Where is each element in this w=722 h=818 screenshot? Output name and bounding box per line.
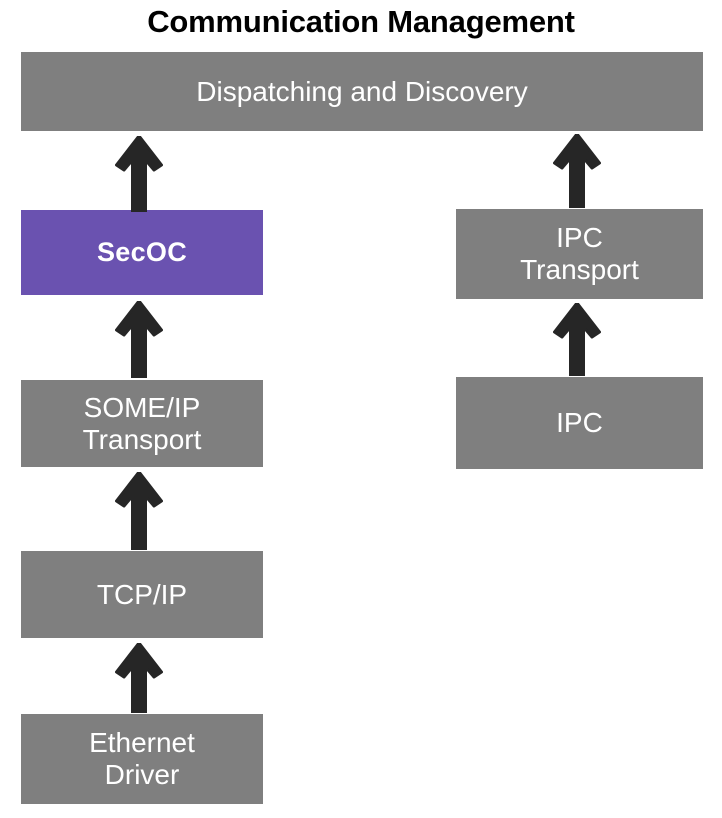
- arrow-secoc-to-dispatching: [115, 136, 163, 212]
- node-dispatching-and-discovery[interactable]: Dispatching and Discovery: [21, 52, 703, 131]
- arrow-some-ip-to-secoc: [115, 301, 163, 378]
- node-ethernet-driver[interactable]: Ethernet Driver: [21, 714, 263, 804]
- node-label-dispatching-and-discovery: Dispatching and Discovery: [190, 76, 534, 108]
- node-some-ip-transport[interactable]: SOME/IP Transport: [21, 380, 263, 467]
- node-label-secoc: SecOC: [91, 237, 193, 268]
- node-ipc-transport[interactable]: IPC Transport: [456, 209, 703, 299]
- node-label-ipc-transport: IPC Transport: [514, 222, 645, 286]
- node-label-ethernet-driver: Ethernet Driver: [83, 727, 201, 791]
- arrow-ipc-transport-to-dispatching: [553, 134, 601, 208]
- arrow-ipc-to-ipc-transport: [553, 303, 601, 376]
- communication-management-diagram: Communication Management Dispatching and…: [0, 0, 722, 818]
- arrow-ethernet-to-tcp-ip: [115, 643, 163, 713]
- page-title: Communication Management: [0, 0, 722, 44]
- node-ipc[interactable]: IPC: [456, 377, 703, 469]
- node-tcp-ip[interactable]: TCP/IP: [21, 551, 263, 638]
- node-label-tcp-ip: TCP/IP: [91, 579, 193, 611]
- node-label-some-ip-transport: SOME/IP Transport: [77, 392, 208, 456]
- arrow-tcp-ip-to-some-ip: [115, 472, 163, 550]
- node-label-ipc: IPC: [550, 407, 609, 439]
- node-secoc[interactable]: SecOC: [21, 210, 263, 295]
